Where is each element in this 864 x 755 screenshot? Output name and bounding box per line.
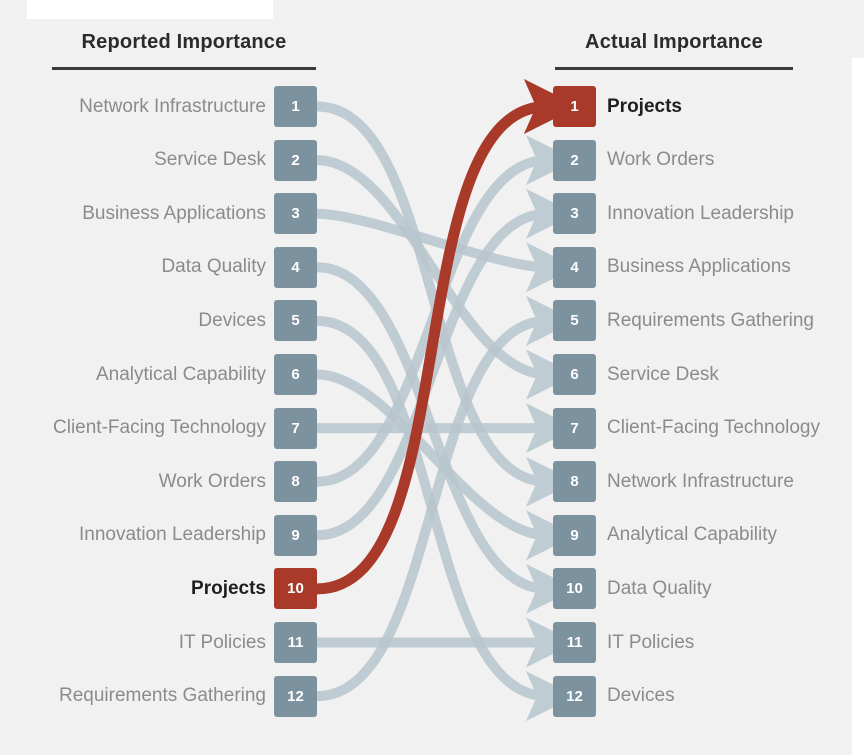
rank-item-label: Work Orders <box>607 140 714 181</box>
rank-item-label: Requirements Gathering <box>607 300 814 341</box>
rank-item-label: IT Policies <box>607 622 694 663</box>
rank-row[interactable]: 10Data Quality <box>553 568 864 610</box>
rank-badge: 3 <box>274 193 317 234</box>
rank-item-label: Analytical Capability <box>96 354 266 395</box>
rank-item-label: IT Policies <box>179 622 266 663</box>
rank-badge: 5 <box>274 300 317 341</box>
rank-item-label: Devices <box>607 676 675 717</box>
rank-item-label: Service Desk <box>607 354 719 395</box>
rank-badge: 10 <box>274 568 317 609</box>
rank-row[interactable]: 3Innovation Leadership <box>553 193 864 235</box>
rank-badge: 8 <box>553 461 596 502</box>
rank-item-label: Projects <box>191 568 266 609</box>
rank-item-label: Projects <box>607 86 682 127</box>
rank-item-label: Work Orders <box>159 461 266 502</box>
rank-item-label: Data Quality <box>161 247 266 288</box>
rank-badge: 2 <box>274 140 317 181</box>
rank-item-label: Business Applications <box>607 247 791 288</box>
rank-badge: 1 <box>553 86 596 127</box>
rank-row[interactable]: 11IT Policies <box>0 622 317 664</box>
rank-badge: 9 <box>553 515 596 556</box>
rank-row[interactable]: 8Network Infrastructure <box>553 461 864 503</box>
rank-badge: 6 <box>274 354 317 395</box>
rank-badge: 7 <box>274 408 317 449</box>
rank-row[interactable]: 5Requirements Gathering <box>553 300 864 342</box>
rank-badge: 2 <box>553 140 596 181</box>
rank-row[interactable]: 7Client-Facing Technology <box>553 408 864 450</box>
rank-item-label: Innovation Leadership <box>607 193 794 234</box>
rank-badge: 8 <box>274 461 317 502</box>
rank-row[interactable]: 1Projects <box>553 86 864 128</box>
rank-badge: 6 <box>553 354 596 395</box>
slide-canvas: Reported Importance Actual Importance 1N… <box>0 0 864 755</box>
rank-row[interactable]: 1Network Infrastructure <box>0 86 317 128</box>
rank-item-label: Client-Facing Technology <box>53 408 266 449</box>
rank-item-label: Data Quality <box>607 568 712 609</box>
rank-item-label: Network Infrastructure <box>607 461 794 502</box>
rank-row[interactable]: 8Work Orders <box>0 461 317 503</box>
rank-item-label: Requirements Gathering <box>59 676 266 717</box>
rank-row[interactable]: 10Projects <box>0 568 317 610</box>
rank-item-label: Client-Facing Technology <box>607 408 820 449</box>
rank-badge: 11 <box>274 622 317 663</box>
rank-row[interactable]: 2Work Orders <box>553 140 864 182</box>
rank-row[interactable]: 4Business Applications <box>553 247 864 289</box>
rank-badge: 9 <box>274 515 317 556</box>
rank-badge: 12 <box>274 676 317 717</box>
rank-badge: 11 <box>553 622 596 663</box>
rank-row[interactable]: 4Data Quality <box>0 247 317 289</box>
rank-row[interactable]: 6Analytical Capability <box>0 354 317 396</box>
rank-item-label: Service Desk <box>154 140 266 181</box>
rank-badge: 1 <box>274 86 317 127</box>
rank-row[interactable]: 12Requirements Gathering <box>0 676 317 718</box>
rank-row[interactable]: 9Analytical Capability <box>553 515 864 557</box>
rank-row[interactable]: 3Business Applications <box>0 193 317 235</box>
rank-row[interactable]: 7Client-Facing Technology <box>0 408 317 450</box>
rank-badge: 3 <box>553 193 596 234</box>
rank-row[interactable]: 6Service Desk <box>553 354 864 396</box>
rank-item-label: Business Applications <box>82 193 266 234</box>
rank-row[interactable]: 11IT Policies <box>553 622 864 664</box>
rank-row[interactable]: 5Devices <box>0 300 317 342</box>
rank-item-label: Devices <box>198 300 266 341</box>
rank-item-label: Innovation Leadership <box>79 515 266 556</box>
rank-badge: 4 <box>553 247 596 288</box>
rank-badge: 10 <box>553 568 596 609</box>
rank-badge: 4 <box>274 247 317 288</box>
rank-row[interactable]: 2Service Desk <box>0 140 317 182</box>
rank-badge: 7 <box>553 408 596 449</box>
rank-row[interactable]: 12Devices <box>553 676 864 718</box>
rank-badge: 12 <box>553 676 596 717</box>
rank-item-label: Network Infrastructure <box>79 86 266 127</box>
rank-row[interactable]: 9Innovation Leadership <box>0 515 317 557</box>
rank-item-label: Analytical Capability <box>607 515 777 556</box>
rank-badge: 5 <box>553 300 596 341</box>
